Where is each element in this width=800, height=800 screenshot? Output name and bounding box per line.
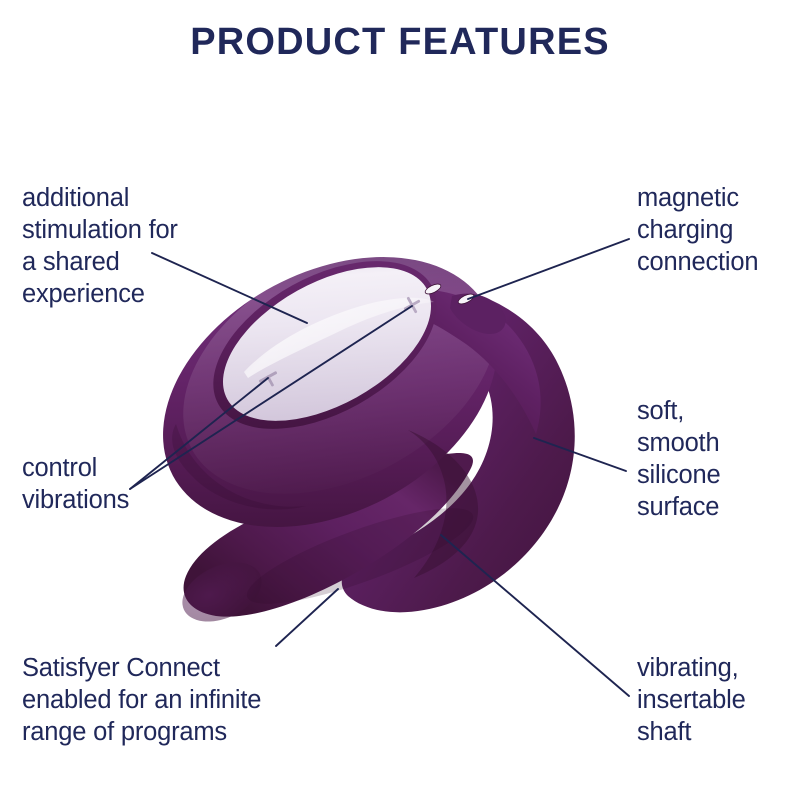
callout-line: enabled for an infinite <box>22 684 261 716</box>
callout-satisfyer-connect: Satisfyer Connect enabled for an infinit… <box>22 652 261 748</box>
leader-line-vibrating-shaft <box>441 535 629 696</box>
callout-line: insertable <box>637 684 746 716</box>
callout-line: additional <box>22 182 178 214</box>
callout-magnetic-charging: magnetic charging connection <box>637 182 758 278</box>
callout-soft-smooth-silicone: soft, smooth silicone surface <box>637 395 720 524</box>
callout-line: a shared <box>22 246 178 278</box>
callout-line: charging <box>637 214 758 246</box>
callout-line: connection <box>637 246 758 278</box>
callout-line: smooth <box>637 427 720 459</box>
callout-additional-stimulation: additional stimulation for a shared expe… <box>22 182 178 311</box>
callout-line: vibrations <box>22 484 129 516</box>
product-features-figure: PRODUCT FEATURES <box>0 0 800 800</box>
callout-line: stimulation for <box>22 214 178 246</box>
product-body <box>116 196 574 634</box>
callout-vibrating-insertable-shaft: vibrating, insertable shaft <box>637 652 746 748</box>
callout-line: shaft <box>637 716 746 748</box>
callout-line: soft, <box>637 395 720 427</box>
callout-line: magnetic <box>637 182 758 214</box>
callout-line: silicone <box>637 459 720 491</box>
leader-line-magnetic-charging <box>468 239 629 299</box>
callout-line: Satisfyer Connect <box>22 652 261 684</box>
callout-line: vibrating, <box>637 652 746 684</box>
callout-control-vibrations: control vibrations <box>22 452 129 516</box>
callout-line: range of programs <box>22 716 261 748</box>
callout-line: experience <box>22 278 178 310</box>
callout-line: surface <box>637 491 720 523</box>
callout-line: control <box>22 452 129 484</box>
